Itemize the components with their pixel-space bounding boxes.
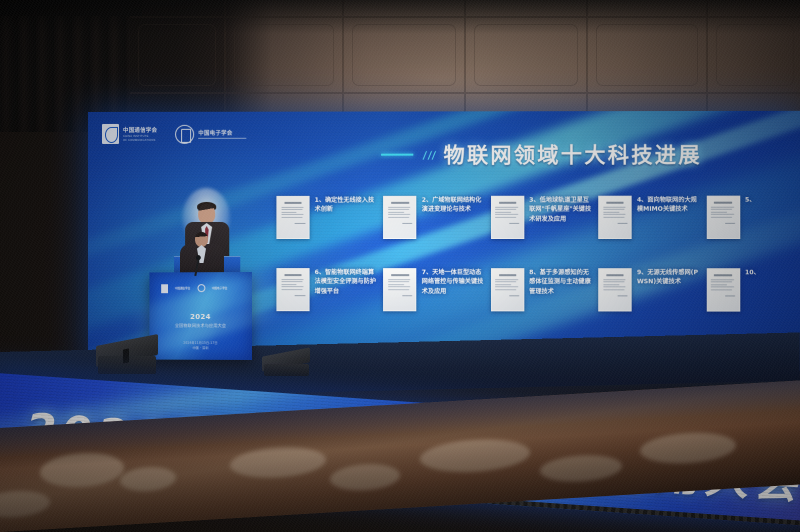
award-card: 1、确定性无线接入技术创新 xyxy=(276,190,381,260)
award-card: 5、 xyxy=(706,190,800,261)
certificate-thumbnail xyxy=(598,196,631,239)
award-card: 2、广域物联网结构化演进变理论与技术 xyxy=(383,190,488,260)
title-chevron-icon xyxy=(422,150,434,159)
award-label: 8、基于多源感知的无感体征监测与主动健康管理技术 xyxy=(529,268,596,297)
logo-name-en-2: OF COMMUNICATIONS xyxy=(123,139,157,142)
certificate-thumbnail xyxy=(491,268,524,311)
page-title: 物联网领域十大科技进展 xyxy=(444,139,702,169)
electronics-mark-icon xyxy=(175,124,194,143)
certificate-thumbnail xyxy=(598,268,631,311)
award-label: 6、智能物联网终端算法模型安全评测与防护增强平台 xyxy=(315,268,382,296)
stage-monitor-speaker xyxy=(262,352,310,376)
award-card: 10、 xyxy=(706,262,800,333)
award-label: 5、 xyxy=(745,196,758,206)
podium-logo-text-2: 中国电子学会 xyxy=(212,286,227,290)
certificate-thumbnail xyxy=(383,268,416,311)
title-dash-icon xyxy=(381,154,413,156)
logo-name-en-1: CHINA INSTITUTE xyxy=(123,135,157,138)
podium: 中国通信学会 中国电子学会 2024 全国物联网技术与应用大会 2024年11月… xyxy=(149,272,252,360)
certificate-thumbnail xyxy=(383,196,416,239)
award-card: 3、低地球轨道卫星互联网"千帆星座"关键技术研发及应用 xyxy=(491,190,597,260)
podium-logos: 中国通信学会 中国电子学会 xyxy=(161,284,227,293)
podium-logo-text-1: 中国通信学会 xyxy=(175,286,190,290)
monitor-front-face xyxy=(264,364,309,376)
award-label: 3、低地球轨道卫星互联网"千帆星座"关键技术研发及应用 xyxy=(529,196,596,225)
award-label: 2、广域物联网结构化演进变理论与技术 xyxy=(422,196,489,215)
electronics-mark-icon xyxy=(197,284,205,292)
award-label: 7、天地一体巨型动态网络管控与传输关键技术及应用 xyxy=(422,268,489,296)
logo-china-institute-of-communications: 中国通信学会 CHINA INSTITUTE OF COMMUNICATIONS xyxy=(102,124,157,144)
certificate-thumbnail xyxy=(491,196,524,239)
podium-year: 2024 xyxy=(149,314,252,322)
portrait-head xyxy=(198,204,215,224)
monitor-port-slot xyxy=(123,348,129,363)
institute-mark-icon xyxy=(161,284,168,292)
podium-meta-location: 中国 · 深圳 xyxy=(149,346,252,351)
certificate-thumbnail xyxy=(276,196,309,239)
logo-name-cn: 中国通信学会 xyxy=(123,126,157,134)
award-label: 4、面向物联网的大规模MIMO关键技术 xyxy=(637,196,704,215)
award-card: 9、无源无线传感网(PWSN)关键技术 xyxy=(598,262,704,333)
podium-meta-block: 2024年11月15日-17日 中国 · 深圳 xyxy=(149,341,252,351)
logo-name-cn: 中国电子学会 xyxy=(198,129,246,137)
podium-title-block: 2024 全国物联网技术与应用大会 xyxy=(149,314,252,329)
award-card: 4、面向物联网的大规模MIMO关键技术 xyxy=(598,190,704,261)
slide-title-row: 物联网领域十大科技进展 xyxy=(381,139,702,170)
institute-mark-icon xyxy=(102,124,119,144)
certificate-thumbnail xyxy=(706,196,740,239)
stage-monitor-speaker xyxy=(96,340,158,374)
logo-chinese-institute-of-electronics: 中国电子学会 xyxy=(175,124,246,143)
award-card: 7、天地一体巨型动态网络管控与传输关键技术及应用 xyxy=(383,262,488,332)
award-label: 1、确定性无线接入技术创新 xyxy=(315,196,382,215)
speaker-head xyxy=(195,232,208,247)
award-card: 6、智能物联网终端算法模型安全评测与防护增强平台 xyxy=(276,262,381,332)
award-label: 9、无源无线传感网(PWSN)关键技术 xyxy=(637,268,704,287)
award-grid: 1、确定性无线接入技术创新 2、广域物联网结构化演进变理论与技术 3、低地球轨道… xyxy=(276,190,800,333)
organization-logos: 中国通信学会 CHINA INSTITUTE OF COMMUNICATIONS… xyxy=(102,124,246,144)
conference-stage-photo: 中国通信学会 CHINA INSTITUTE OF COMMUNICATIONS… xyxy=(0,0,800,532)
certificate-thumbnail xyxy=(706,268,740,311)
award-label: 10、 xyxy=(745,268,762,278)
podium-subtitle: 全国物联网技术与应用大会 xyxy=(149,323,252,329)
award-card: 8、基于多源感知的无感体征监测与主动健康管理技术 xyxy=(491,262,597,332)
logo-underline xyxy=(198,138,246,139)
